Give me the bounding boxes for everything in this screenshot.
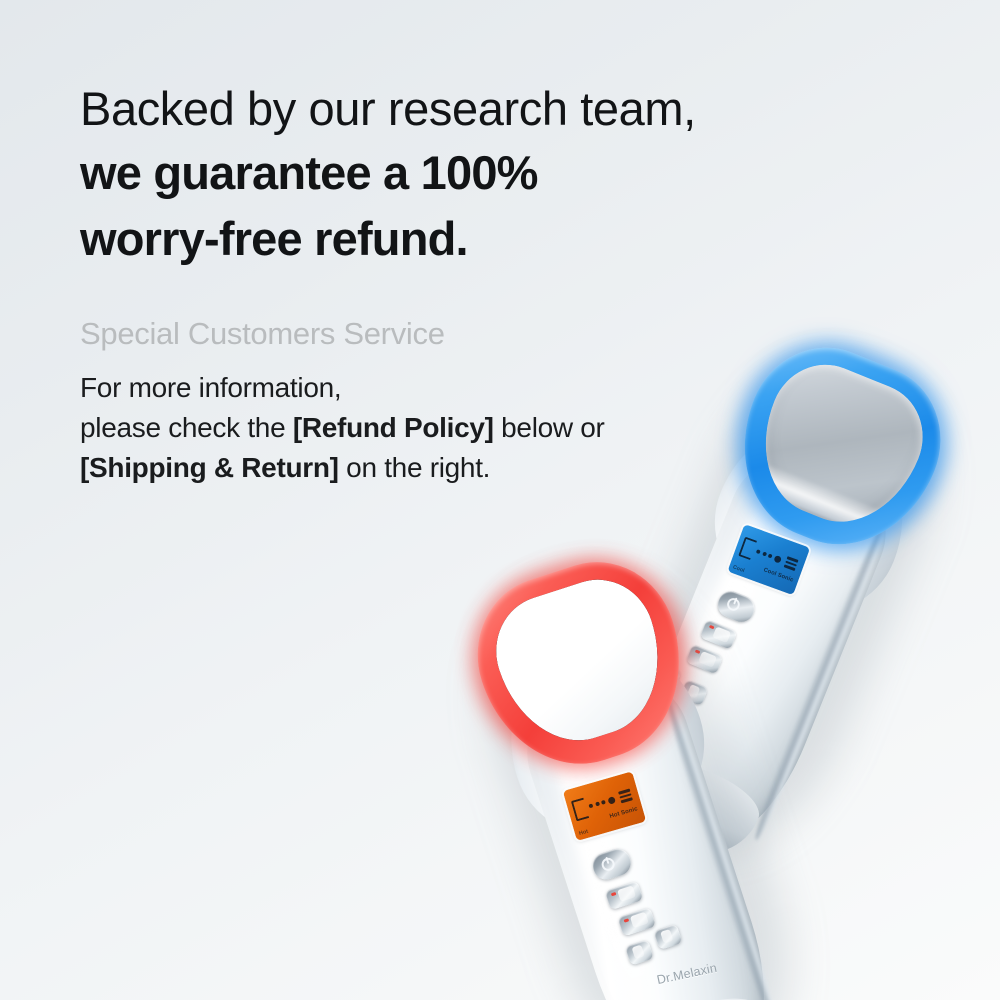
battery-icon (738, 536, 757, 559)
level-bars-icon (618, 789, 633, 803)
level-bars-icon (783, 556, 798, 570)
intensity-dot (595, 802, 600, 807)
body-line-2-suffix: below or (494, 412, 605, 443)
battery-icon (571, 797, 589, 821)
refund-policy-link[interactable]: [Refund Policy] (293, 412, 494, 443)
button-sheen (632, 945, 645, 960)
page-title: Backed by our research team, we guarante… (80, 78, 900, 272)
button-sheen (630, 912, 649, 928)
refund-guarantee-banner: Backed by our research team, we guarante… (0, 0, 1000, 1000)
body-line-1: For more information, (80, 368, 900, 408)
headline-line-1: Backed by our research team, (80, 78, 900, 140)
intensity-dot (588, 803, 593, 808)
text-block: Backed by our research team, we guarante… (80, 78, 900, 488)
intensity-dot (768, 553, 773, 558)
button-sheen (617, 885, 636, 901)
led-indicator-red (624, 918, 630, 922)
button-sheen (660, 929, 673, 944)
body-copy: For more information, please check the [… (80, 356, 900, 488)
headline-line-2: we guarantee a 100% (80, 140, 900, 206)
body-line-3-suffix: on the right. (339, 452, 490, 483)
headline-line-3: worry-free refund. (80, 206, 900, 272)
intensity-dot-active (773, 554, 782, 563)
led-indicator-red (611, 892, 617, 896)
body-line-2-prefix: please check the (80, 412, 293, 443)
subhead: Special Customers Service (80, 272, 900, 356)
button-sheen (712, 626, 731, 643)
body-line-3: [Shipping & Return] on the right. (80, 448, 900, 488)
intensity-dots (755, 548, 781, 563)
intensity-dot-active (607, 796, 616, 805)
intensity-dot (601, 800, 606, 805)
power-icon (600, 856, 616, 872)
level-bar (620, 798, 632, 804)
led-indicator-red (709, 625, 715, 630)
intensity-dots (588, 796, 615, 810)
intensity-dot (762, 551, 767, 556)
power-icon (725, 596, 741, 612)
body-line-2: please check the [Refund Policy] below o… (80, 408, 900, 448)
intensity-dot (756, 549, 761, 554)
shipping-return-link[interactable]: [Shipping & Return] (80, 452, 339, 483)
